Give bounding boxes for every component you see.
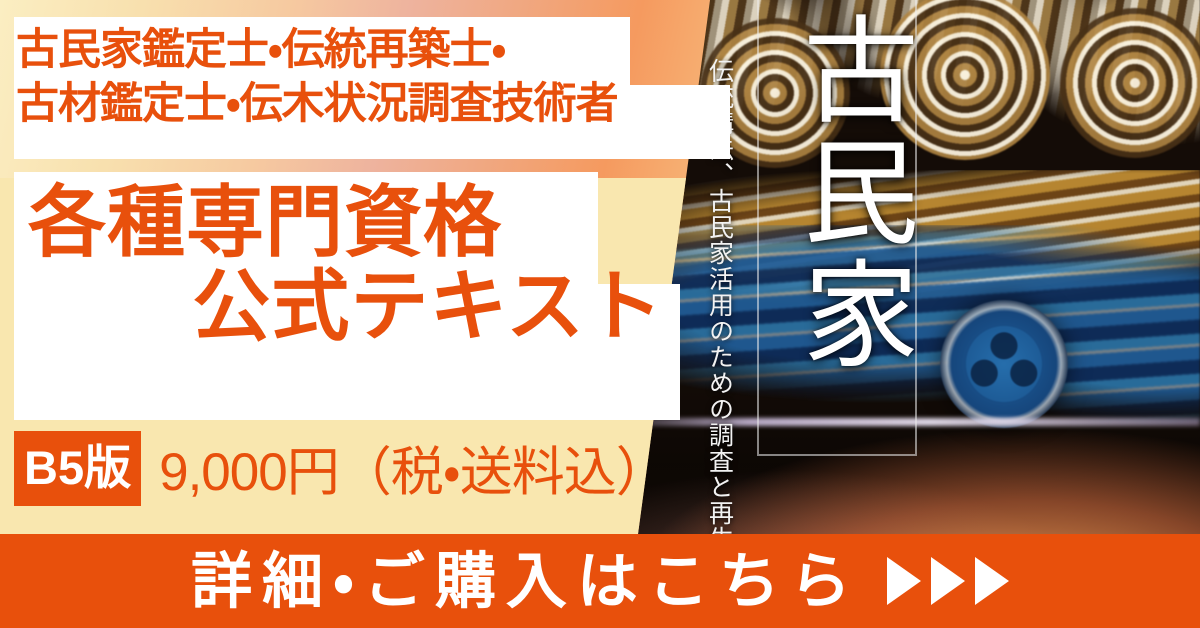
cta-arrow-group <box>887 557 1009 605</box>
triangle-right-icon <box>887 557 921 605</box>
price-text: 9,000円（税・送料込） <box>159 430 668 506</box>
headline-line-1: 各種専門資格 <box>20 180 680 264</box>
price-row: B5版 9,000円（税・送料込） <box>14 430 668 506</box>
format-badge: B5版 <box>14 431 141 506</box>
headline-line-2: 公式テキスト <box>20 264 680 348</box>
book-cover: 伝統構法、古民家活用のための調査と再生の 古民家 <box>757 0 917 456</box>
triangle-right-icon <box>931 557 965 605</box>
triangle-right-icon <box>975 557 1009 605</box>
cta-label: 詳細・ご購入はこちら <box>191 551 861 612</box>
book-title: 古民家 <box>777 10 917 450</box>
headline-block: 各種専門資格 公式テキスト <box>20 180 680 348</box>
family-crest-medallion-icon <box>940 300 1068 428</box>
qualifications-text: 古民家鑑定士・伝統再築士・ 古材鑑定士・伝木状況調査技術者 <box>16 24 728 132</box>
promo-banner: 伝統構法、古民家活用のための調査と再生の 古民家 古民家鑑定士・伝統再築士・ 古… <box>0 0 1200 628</box>
cta-button[interactable]: 詳細・ご購入はこちら <box>0 534 1200 628</box>
carving-curl-3 <box>1060 8 1200 158</box>
